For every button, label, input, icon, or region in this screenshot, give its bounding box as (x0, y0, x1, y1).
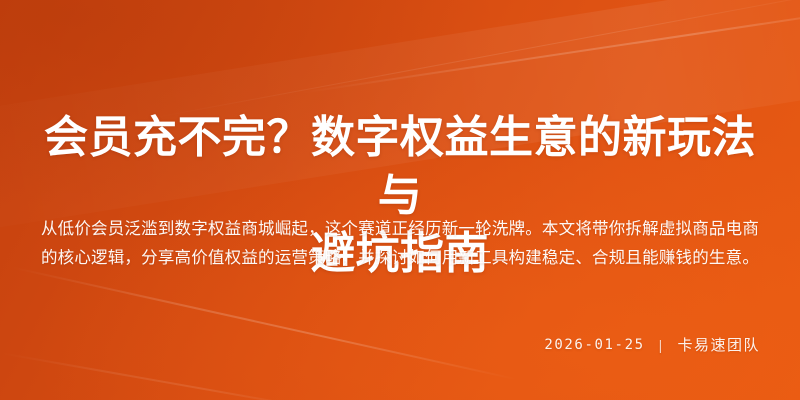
author-team-name: 卡易速团队 (677, 334, 760, 355)
banner-footer: 2026-01-25 | 卡易速团队 (544, 334, 760, 355)
banner-content: 会员充不完？数字权益生意的新玩法与 避坑指南 从低价会员泛滥到数字权益商城崛起，… (0, 0, 800, 400)
banner-subtitle: 从低价会员泛滥到数字权益商城崛起，这个赛道正经历新一轮洗牌。本文将带你拆解虚拟商… (36, 215, 764, 273)
publish-date: 2026-01-25 (544, 337, 644, 353)
article-cover-banner: 会员充不完？数字权益生意的新玩法与 避坑指南 从低价会员泛滥到数字权益商城崛起，… (0, 0, 800, 400)
footer-separator: | (659, 337, 664, 353)
banner-title-line-1: 会员充不完？数字权益生意的新玩法与 (30, 109, 770, 225)
